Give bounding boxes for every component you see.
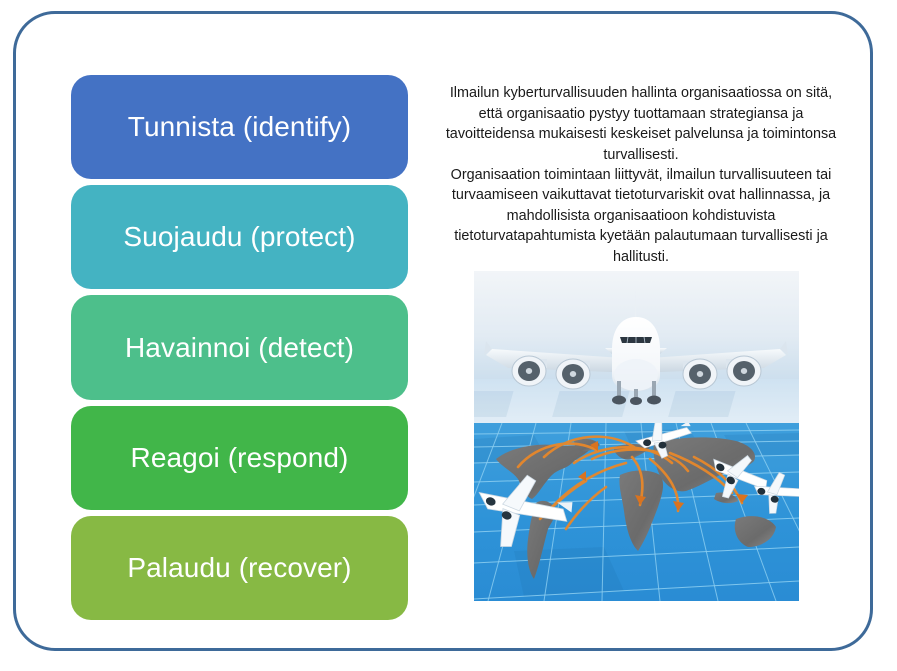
stage-item-identify[interactable]: Tunnista (identify) (71, 75, 408, 179)
stage-item-recover[interactable]: Palaudu (recover) (71, 516, 408, 620)
intro-paragraph: Ilmailun kyberturvallisuuden hallinta or… (444, 83, 838, 267)
stage-label-protect: Suojaudu (protect) (123, 223, 355, 251)
stage-label-identify: Tunnista (identify) (128, 113, 351, 141)
stage-item-protect[interactable]: Suojaudu (protect) (71, 185, 408, 289)
stage-list: Tunnista (identify) Suojaudu (protect) H… (71, 75, 408, 620)
stage-item-detect[interactable]: Havainnoi (detect) (71, 295, 408, 399)
stage-item-respond[interactable]: Reagoi (respond) (71, 406, 408, 510)
aviation-illustration-graphic (474, 271, 799, 601)
right-column: Ilmailun kyberturvallisuuden hallinta or… (436, 69, 846, 614)
aviation-illustration (474, 271, 799, 601)
stage-label-detect: Havainnoi (detect) (125, 334, 354, 362)
stage-label-respond: Reagoi (respond) (131, 444, 349, 472)
slide-frame: Tunnista (identify) Suojaudu (protect) H… (13, 11, 873, 651)
stage-label-recover: Palaudu (recover) (127, 554, 351, 582)
